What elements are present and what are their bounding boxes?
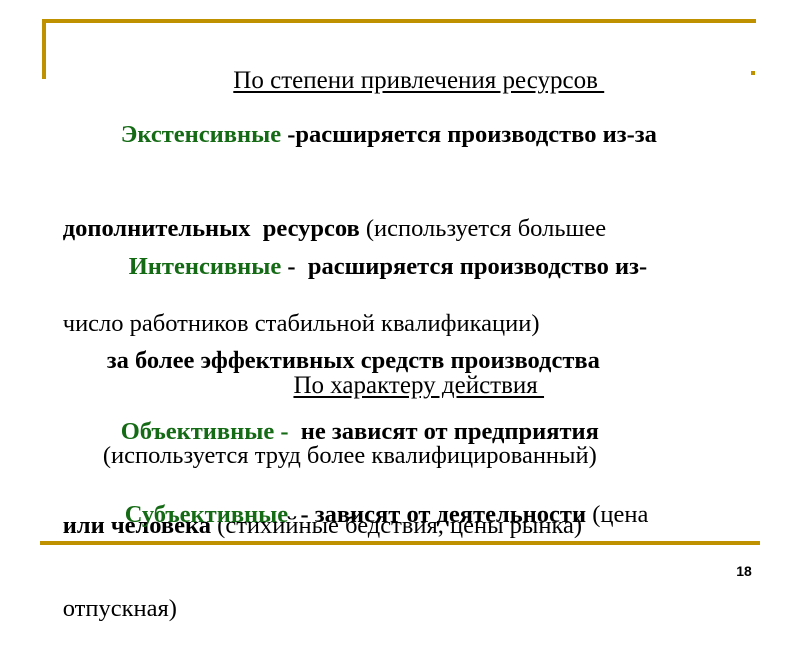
- top-accent-rule: [42, 19, 756, 23]
- paragraph-subjective-line-1: Субъективные - зависят от деятельности (…: [26, 468, 800, 562]
- slide-canvas: По степени привлечения ресурсов Экстенси…: [0, 0, 800, 600]
- paragraph-extensive-line-1: Экстенсивные -расширяется производство и…: [26, 88, 800, 182]
- term-intensive: Интенсивные: [129, 253, 282, 280]
- paragraph-subjective-line-2: отпускная): [26, 562, 800, 656]
- paragraph-objective-line-1: Объективные - не зависят от предприятия: [26, 385, 800, 479]
- paragraph-subjective-line-1-bold: - зависят от деятельности: [294, 501, 592, 528]
- paragraph-subjective-line-1-regular: (цена: [592, 501, 648, 528]
- paragraph-extensive-line-1-bold: -расширяется производство из-за: [281, 121, 657, 148]
- paragraph-intensive-line-1-bold: - расширяется производство из-: [281, 253, 647, 280]
- paragraph-intensive-line-1: Интенсивные - расширяется производство и…: [26, 220, 800, 314]
- page-number: 18: [724, 563, 764, 579]
- paragraph-subjective-line-2-regular: отпускная): [63, 595, 177, 622]
- term-extensive: Экстенсивные: [121, 121, 281, 148]
- term-subjective: Субъективные: [125, 501, 295, 528]
- paragraph-subjective: Субъективные - зависят от деятельности (…: [0, 468, 800, 656]
- term-objective: Объективные -: [121, 418, 289, 445]
- paragraph-objective-line-1-bold: не зависят от предприятия: [289, 418, 599, 445]
